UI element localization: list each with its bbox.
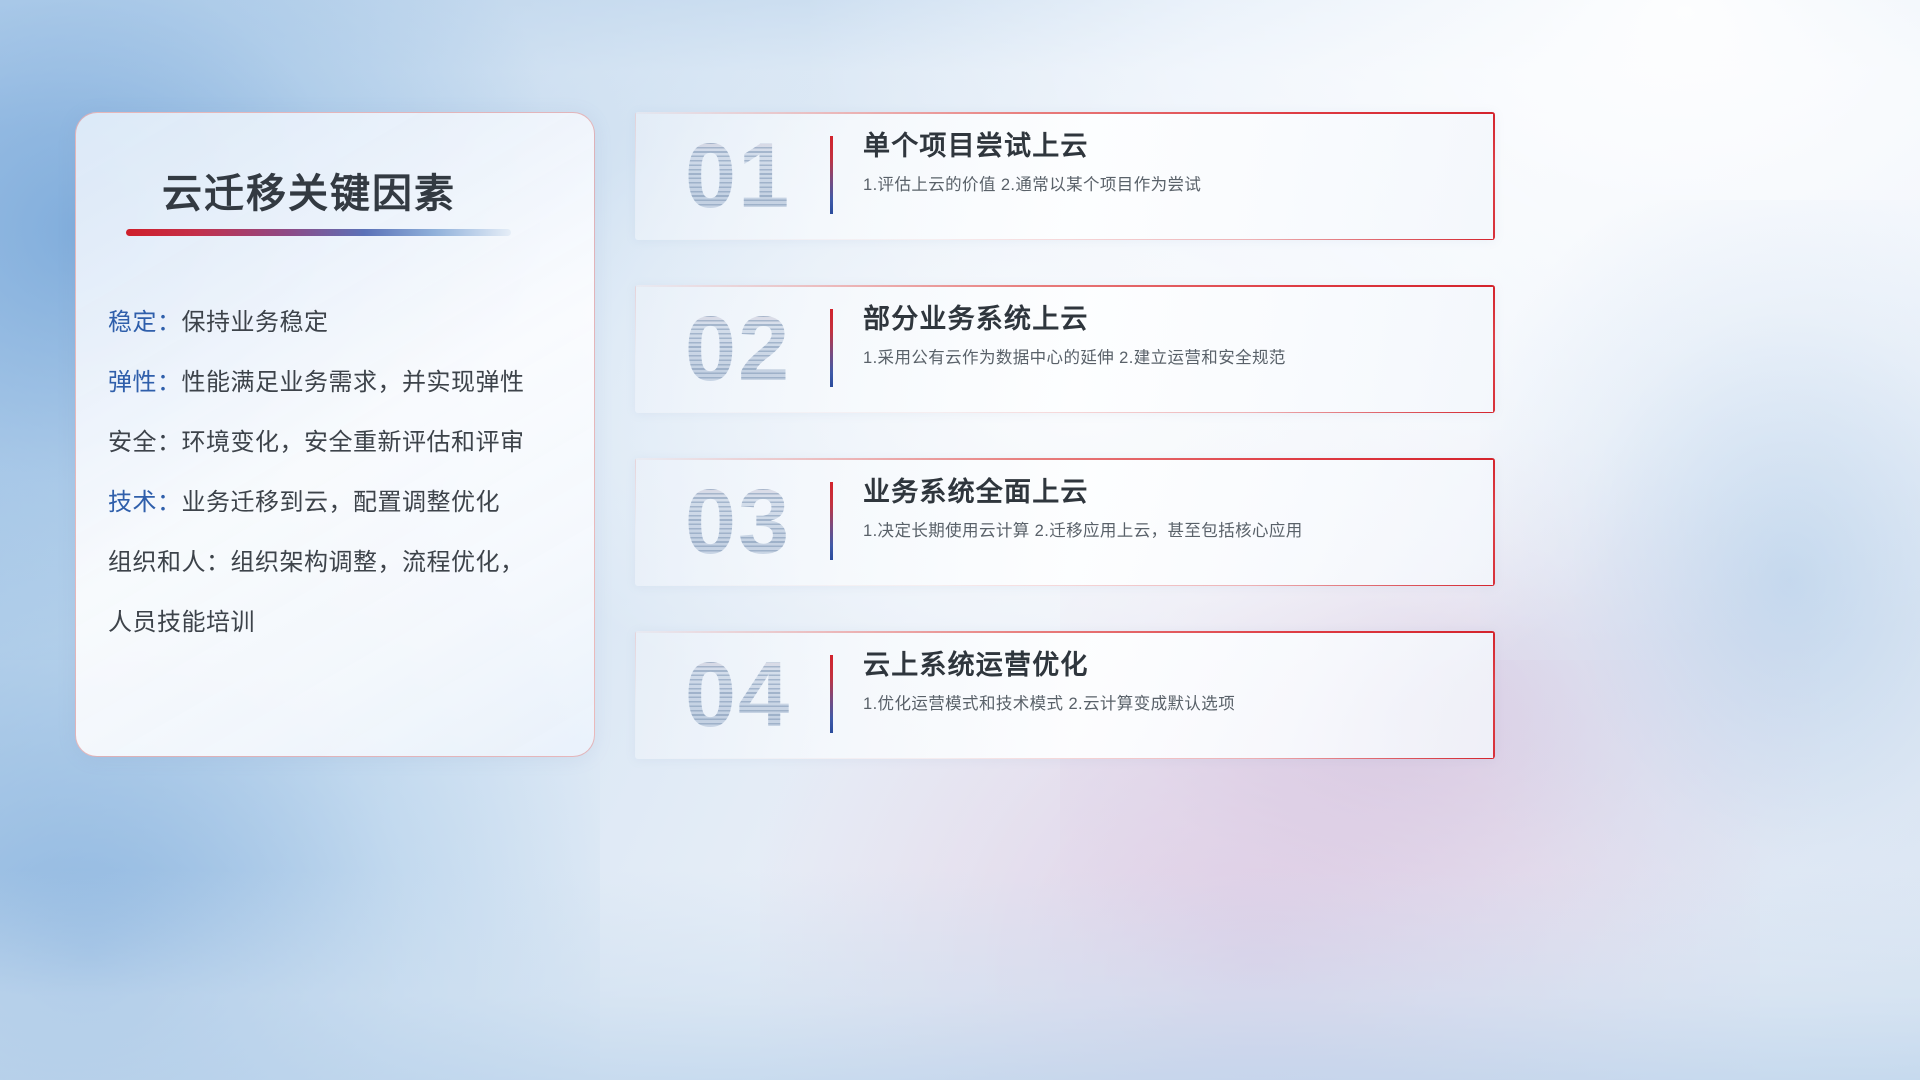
list-item: 技术：业务迁移到云，配置调整优化 (108, 491, 568, 515)
card-subtitle: 1.优化运营模式和技术模式 2.云计算变成默认选项 (863, 694, 1471, 715)
key-factors-panel: 云迁移关键因素 稳定：保持业务稳定 弹性：性能满足业务需求，并实现弹性 安全：环… (75, 112, 595, 757)
panel-title: 云迁移关键因素 (162, 161, 456, 219)
card-divider (830, 309, 833, 387)
card-border-bottom (635, 585, 1495, 586)
list-item-text: 性能满足业务需求，并实现弹性 (182, 369, 525, 396)
card-border-left (635, 631, 636, 759)
card-number: 03 (663, 462, 813, 582)
card-subtitle: 1.决定长期使用云计算 2.迁移应用上云，甚至包括核心应用 (863, 521, 1471, 542)
card-divider (830, 482, 833, 560)
list-item: 弹性：性能满足业务需求，并实现弹性 (108, 371, 568, 395)
card-border-left (635, 112, 636, 240)
card-title: 单个项目尝试上云 (863, 130, 1471, 164)
list-item: 人员技能培训 (108, 611, 568, 635)
card-number: 01 (663, 116, 813, 236)
card-border-bottom (635, 412, 1495, 413)
card-title: 云上系统运营优化 (863, 649, 1471, 683)
card-title: 部分业务系统上云 (863, 303, 1471, 337)
card-divider (830, 136, 833, 214)
card-border-right (1493, 458, 1495, 586)
list-item-text: 业务迁移到云，配置调整优化 (182, 489, 501, 516)
card-border-left (635, 285, 636, 413)
card-border-left (635, 458, 636, 586)
panel-title-underline (126, 229, 511, 236)
list-item-label: 弹性： (108, 369, 182, 396)
stage-card-02[interactable]: 02 部分业务系统上云 1.采用公有云作为数据中心的延伸 2.建立运营和安全规范 (635, 285, 1495, 413)
card-title: 业务系统全面上云 (863, 476, 1471, 510)
card-border-top (635, 631, 1495, 633)
card-border-bottom (635, 239, 1495, 240)
card-border-top (635, 285, 1495, 287)
card-number: 02 (663, 289, 813, 409)
card-subtitle: 1.采用公有云作为数据中心的延伸 2.建立运营和安全规范 (863, 348, 1471, 369)
card-divider (830, 655, 833, 733)
card-border-top (635, 458, 1495, 460)
card-body: 云上系统运营优化 1.优化运营模式和技术模式 2.云计算变成默认选项 (863, 649, 1471, 715)
list-item: 安全：环境变化，安全重新评估和评审 (108, 431, 568, 455)
key-factors-list: 稳定：保持业务稳定 弹性：性能满足业务需求，并实现弹性 安全：环境变化，安全重新… (108, 311, 568, 635)
list-item-label: 安全： (108, 429, 182, 456)
list-item-label: 技术： (108, 489, 182, 516)
list-item-label: 组织和人： (108, 549, 231, 576)
card-body: 部分业务系统上云 1.采用公有云作为数据中心的延伸 2.建立运营和安全规范 (863, 303, 1471, 369)
list-item-text: 保持业务稳定 (182, 309, 329, 336)
list-item: 组织和人：组织架构调整，流程优化， (108, 551, 568, 575)
list-item-text: 人员技能培训 (108, 609, 255, 636)
card-body: 业务系统全面上云 1.决定长期使用云计算 2.迁移应用上云，甚至包括核心应用 (863, 476, 1471, 542)
card-body: 单个项目尝试上云 1.评估上云的价值 2.通常以某个项目作为尝试 (863, 130, 1471, 196)
card-border-right (1493, 112, 1495, 240)
card-number: 04 (663, 635, 813, 755)
card-border-right (1493, 285, 1495, 413)
migration-stage-cards: 01 单个项目尝试上云 1.评估上云的价值 2.通常以某个项目作为尝试 02 部… (635, 112, 1495, 759)
background-bottom-band (0, 870, 1920, 1080)
stage-card-03[interactable]: 03 业务系统全面上云 1.决定长期使用云计算 2.迁移应用上云，甚至包括核心应… (635, 458, 1495, 586)
card-border-right (1493, 631, 1495, 759)
list-item-text: 组织架构调整，流程优化， (231, 549, 525, 576)
list-item-label: 稳定： (108, 309, 182, 336)
list-item-text: 环境变化，安全重新评估和评审 (182, 429, 525, 456)
card-border-top (635, 112, 1495, 114)
background-right-blue-glow (1480, 200, 1920, 960)
list-item: 稳定：保持业务稳定 (108, 311, 568, 335)
card-border-bottom (635, 758, 1495, 759)
stage-card-01[interactable]: 01 单个项目尝试上云 1.评估上云的价值 2.通常以某个项目作为尝试 (635, 112, 1495, 240)
stage-card-04[interactable]: 04 云上系统运营优化 1.优化运营模式和技术模式 2.云计算变成默认选项 (635, 631, 1495, 759)
card-subtitle: 1.评估上云的价值 2.通常以某个项目作为尝试 (863, 175, 1471, 196)
